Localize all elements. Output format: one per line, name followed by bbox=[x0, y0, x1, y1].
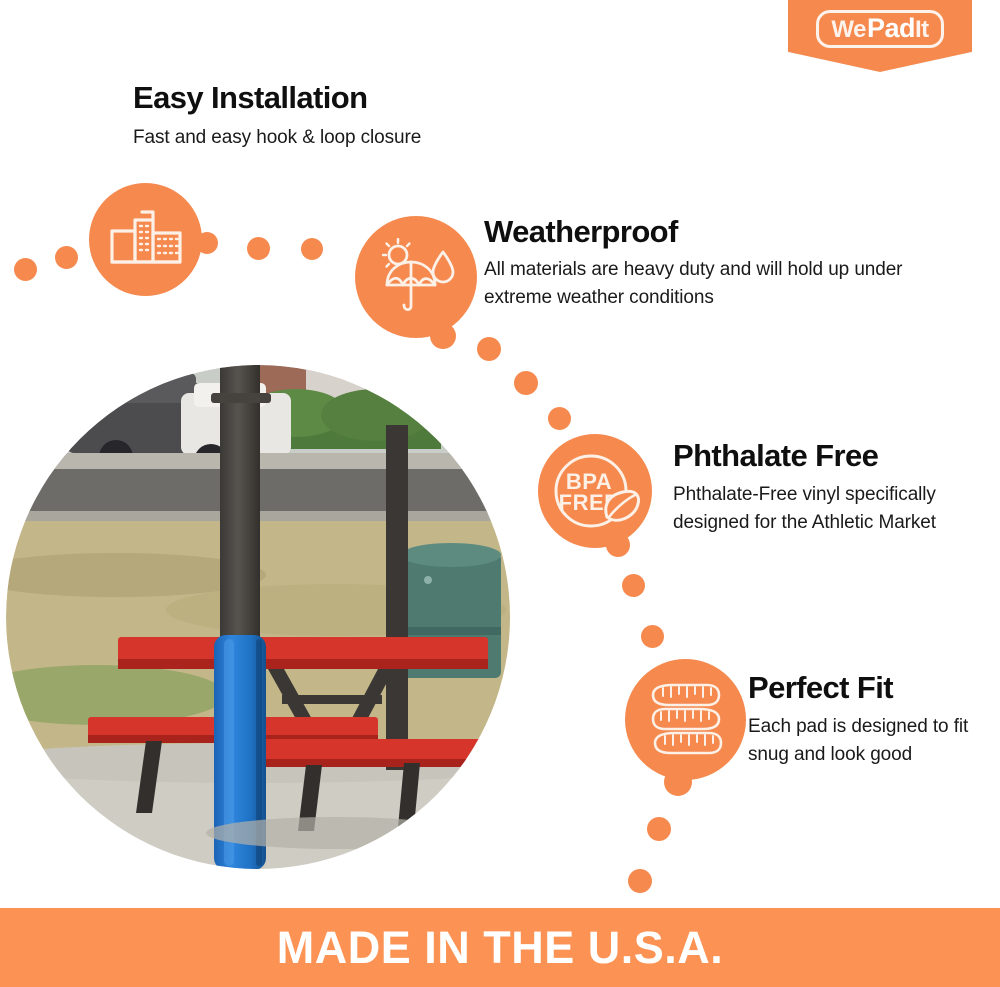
trail-dot bbox=[514, 371, 538, 395]
brand-text-it: It bbox=[915, 18, 929, 42]
trail-dot bbox=[55, 246, 78, 269]
infographic-page: We Pad It Easy Installation Fast and eas… bbox=[0, 0, 1000, 987]
feature-description-weatherproof: All materials are heavy duty and will ho… bbox=[484, 256, 904, 312]
product-photo-circle bbox=[6, 365, 511, 870]
made-in-usa-banner: MADE IN THE U.S.A. bbox=[0, 908, 1000, 987]
trail-dot bbox=[14, 258, 37, 281]
brand-text-we: We bbox=[831, 18, 866, 42]
brand-logo-plate: We Pad It bbox=[816, 10, 943, 48]
buildings-icon bbox=[89, 183, 202, 296]
feature-description-perfect-fit: Each pad is designed to fit snug and loo… bbox=[748, 713, 983, 769]
bpa-free-leaf-icon: BPA FREE bbox=[538, 434, 652, 548]
trail-dot bbox=[647, 817, 671, 841]
feature-description-phthalate-free: Phthalate-Free vinyl specifically design… bbox=[673, 481, 943, 537]
trail-dot bbox=[247, 237, 270, 260]
sun-umbrella-raindrop-icon bbox=[355, 216, 477, 338]
feature-title-easy-installation: Easy Installation bbox=[133, 80, 367, 116]
brand-banner: We Pad It bbox=[788, 0, 972, 72]
trail-dot bbox=[301, 238, 323, 260]
trail-dot bbox=[477, 337, 501, 361]
feature-title-phthalate-free: Phthalate Free bbox=[673, 438, 878, 474]
feature-title-weatherproof: Weatherproof bbox=[484, 214, 678, 250]
trail-dot bbox=[628, 869, 652, 893]
made-in-usa-text: MADE IN THE U.S.A. bbox=[277, 922, 724, 974]
feature-title-perfect-fit: Perfect Fit bbox=[748, 670, 893, 706]
measuring-tape-icon bbox=[625, 659, 746, 780]
feature-description-easy-installation: Fast and easy hook & loop closure bbox=[133, 124, 563, 152]
trail-dot bbox=[548, 407, 571, 430]
trail-dot bbox=[622, 574, 645, 597]
brand-text-pad: Pad bbox=[867, 15, 915, 42]
trail-dot bbox=[641, 625, 664, 648]
